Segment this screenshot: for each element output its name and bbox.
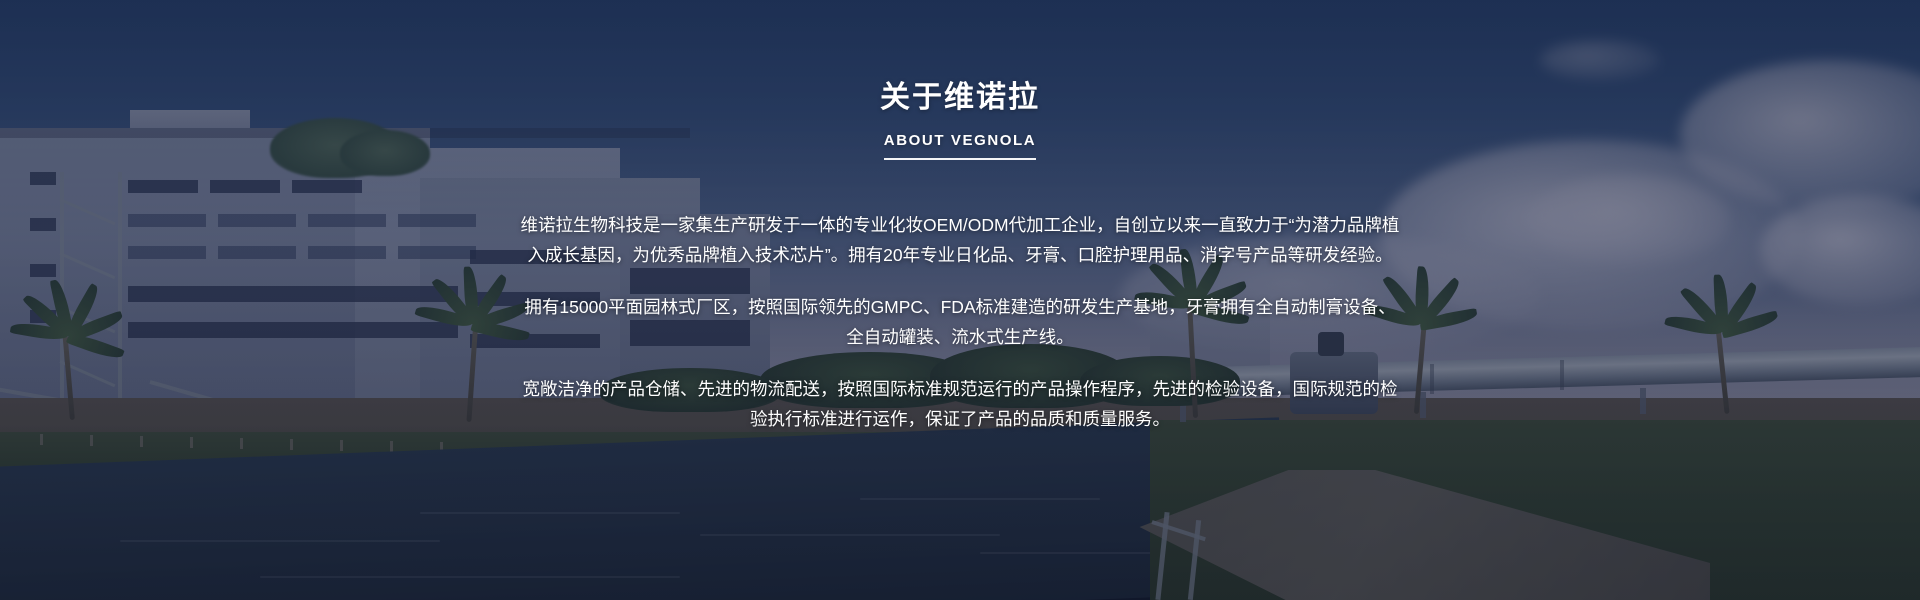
paragraph: 宽敞洁净的产品仓储、先进的物流配送，按照国际标准规范运行的产品操作程序，先进的检…: [520, 374, 1400, 434]
about-hero-section: 关于维诺拉 ABOUT VEGNOLA 维诺拉生物科技是一家集生产研发于一体的专…: [0, 0, 1920, 600]
page-subtitle: ABOUT VEGNOLA: [884, 132, 1036, 149]
paragraph: 维诺拉生物科技是一家集生产研发于一体的专业化妆OEM/ODM代加工企业，自创立以…: [520, 210, 1400, 270]
hero-content: 关于维诺拉 ABOUT VEGNOLA 维诺拉生物科技是一家集生产研发于一体的专…: [0, 0, 1920, 600]
paragraph: 拥有15000平面园林式厂区，按照国际领先的GMPC、FDA标准建造的研发生产基…: [520, 292, 1400, 352]
page-title: 关于维诺拉: [880, 80, 1040, 116]
subtitle-underline-wrap: ABOUT VEGNOLA: [884, 132, 1036, 160]
about-body-text: 维诺拉生物科技是一家集生产研发于一体的专业化妆OEM/ODM代加工企业，自创立以…: [520, 210, 1400, 434]
